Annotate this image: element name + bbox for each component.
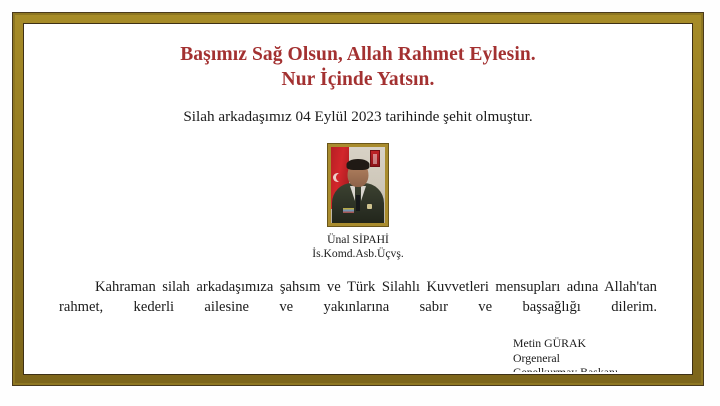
page-title: Başımız Sağ Olsun, Allah Rahmet Eylesin.… [26,42,690,92]
signatory-rank: Orgeneral [513,351,690,366]
condolence-line-1: Kahraman silah arkadaşımıza şahsım ve Tü… [95,279,560,295]
portrait-photo [331,147,385,223]
soldier-rank: İs.Komd.Asb.Üçvş. [26,247,690,261]
necktie [356,195,360,211]
soldier-name: Ünal SİPAHİ [26,233,690,247]
portrait-frame [328,144,388,226]
portrait-caption: Ünal SİPAHİ İs.Komd.Asb.Üçvş. [26,233,690,260]
signature-block: Metin GÜRAK Orgeneral Genelkurmay Başkan… [26,336,690,372]
shirt-collar-left [350,186,355,201]
service-ribbons [343,208,354,213]
shirt-collar-right [361,186,366,201]
signatory-title: Genelkurmay Başkanı [513,365,690,372]
martyrdom-date-line: Silah arkadaşımız 04 Eylül 2023 tarihind… [26,107,690,127]
portrait-container [26,144,690,226]
red-plaque-emblem-icon [370,150,380,167]
decorative-border-frame: Başımız Sağ Olsun, Allah Rahmet Eylesin.… [12,12,704,386]
hair [347,159,370,170]
headline-line-1: Başımız Sağ Olsun, Allah Rahmet Eylesin. [180,44,536,65]
signatory-name: Metin GÜRAK [513,336,690,351]
document-canvas: Başımız Sağ Olsun, Allah Rahmet Eylesin.… [0,0,720,406]
headline-line-2: Nur İçinde Yatsın. [26,67,690,92]
announcement-paper: Başımız Sağ Olsun, Allah Rahmet Eylesin.… [26,26,690,372]
condolence-message: Kahraman silah arkadaşımıza şahsım ve Tü… [59,277,657,317]
uniform-badge [367,204,372,209]
